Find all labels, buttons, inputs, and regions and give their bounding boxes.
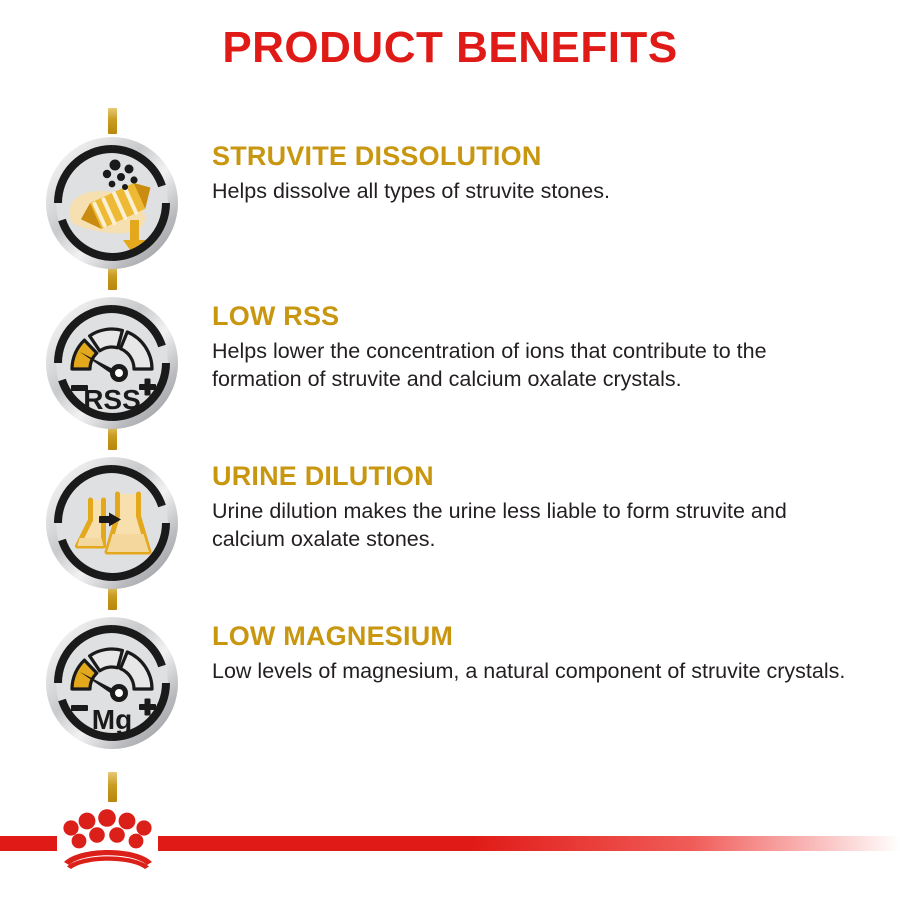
benefit-heading: STRUVITE DISSOLUTION <box>212 140 862 173</box>
benefit-text-block: LOW RSS Helps lower the concentration of… <box>212 300 862 393</box>
benefit-text-block: URINE DILUTION Urine dilution makes the … <box>212 460 862 553</box>
royal-canin-crown-logo <box>52 808 164 870</box>
benefit-description: Helps dissolve all types of struvite sto… <box>212 177 852 205</box>
product-benefits-page: PRODUCT BENEFITS <box>0 0 900 900</box>
svg-text:Mg: Mg <box>92 704 132 735</box>
low-magnesium-gauge-icon: Mg <box>45 616 179 750</box>
footer-bar-left <box>0 836 57 851</box>
benefit-heading: LOW MAGNESIUM <box>212 620 862 653</box>
benefit-item-low-rss: RSS LOW RSS Helps lower the concentratio… <box>0 290 900 450</box>
benefit-text-block: LOW MAGNESIUM Low levels of magnesium, a… <box>212 620 862 685</box>
benefit-item-struvite-dissolution: STRUVITE DISSOLUTION Helps dissolve all … <box>0 130 900 290</box>
benefit-text-block: STRUVITE DISSOLUTION Helps dissolve all … <box>212 140 862 205</box>
urine-dilution-flasks-icon <box>45 456 179 590</box>
struvite-crystal-dissolution-icon <box>45 136 179 270</box>
benefit-description: Low levels of magnesium, a natural compo… <box>212 657 852 685</box>
benefit-item-urine-dilution: URINE DILUTION Urine dilution makes the … <box>0 450 900 610</box>
svg-text:RSS: RSS <box>83 384 141 415</box>
benefit-description: Helps lower the concentration of ions th… <box>212 337 852 393</box>
footer-bar-right <box>158 836 900 851</box>
benefit-description: Urine dilution makes the urine less liab… <box>212 497 852 553</box>
benefit-heading: URINE DILUTION <box>212 460 862 493</box>
footer <box>0 790 900 900</box>
low-rss-gauge-icon: RSS <box>45 296 179 430</box>
benefit-heading: LOW RSS <box>212 300 862 333</box>
benefit-item-low-magnesium: Mg LOW MAGNESIUM Low levels of magnesium… <box>0 610 900 770</box>
page-title: PRODUCT BENEFITS <box>0 22 900 74</box>
